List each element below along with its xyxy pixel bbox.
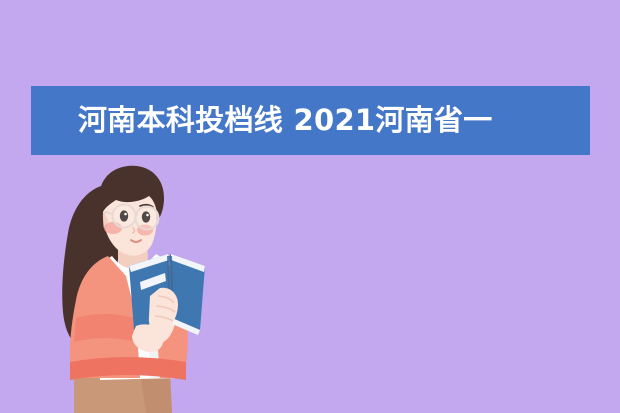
- reading-girl-illustration: [0, 0, 620, 413]
- screenshot-root: 河南本科投档线 2021河南省一: [0, 0, 620, 413]
- glasses-lens-right: [136, 207, 159, 230]
- glasses-bridge: [136, 214, 138, 215]
- title-banner: 河南本科投档线 2021河南省一: [31, 86, 590, 155]
- glasses-lens-left: [113, 205, 136, 228]
- cardigan-fold-shadow: [74, 314, 136, 342]
- page-title: 河南本科投档线 2021河南省一: [78, 86, 493, 155]
